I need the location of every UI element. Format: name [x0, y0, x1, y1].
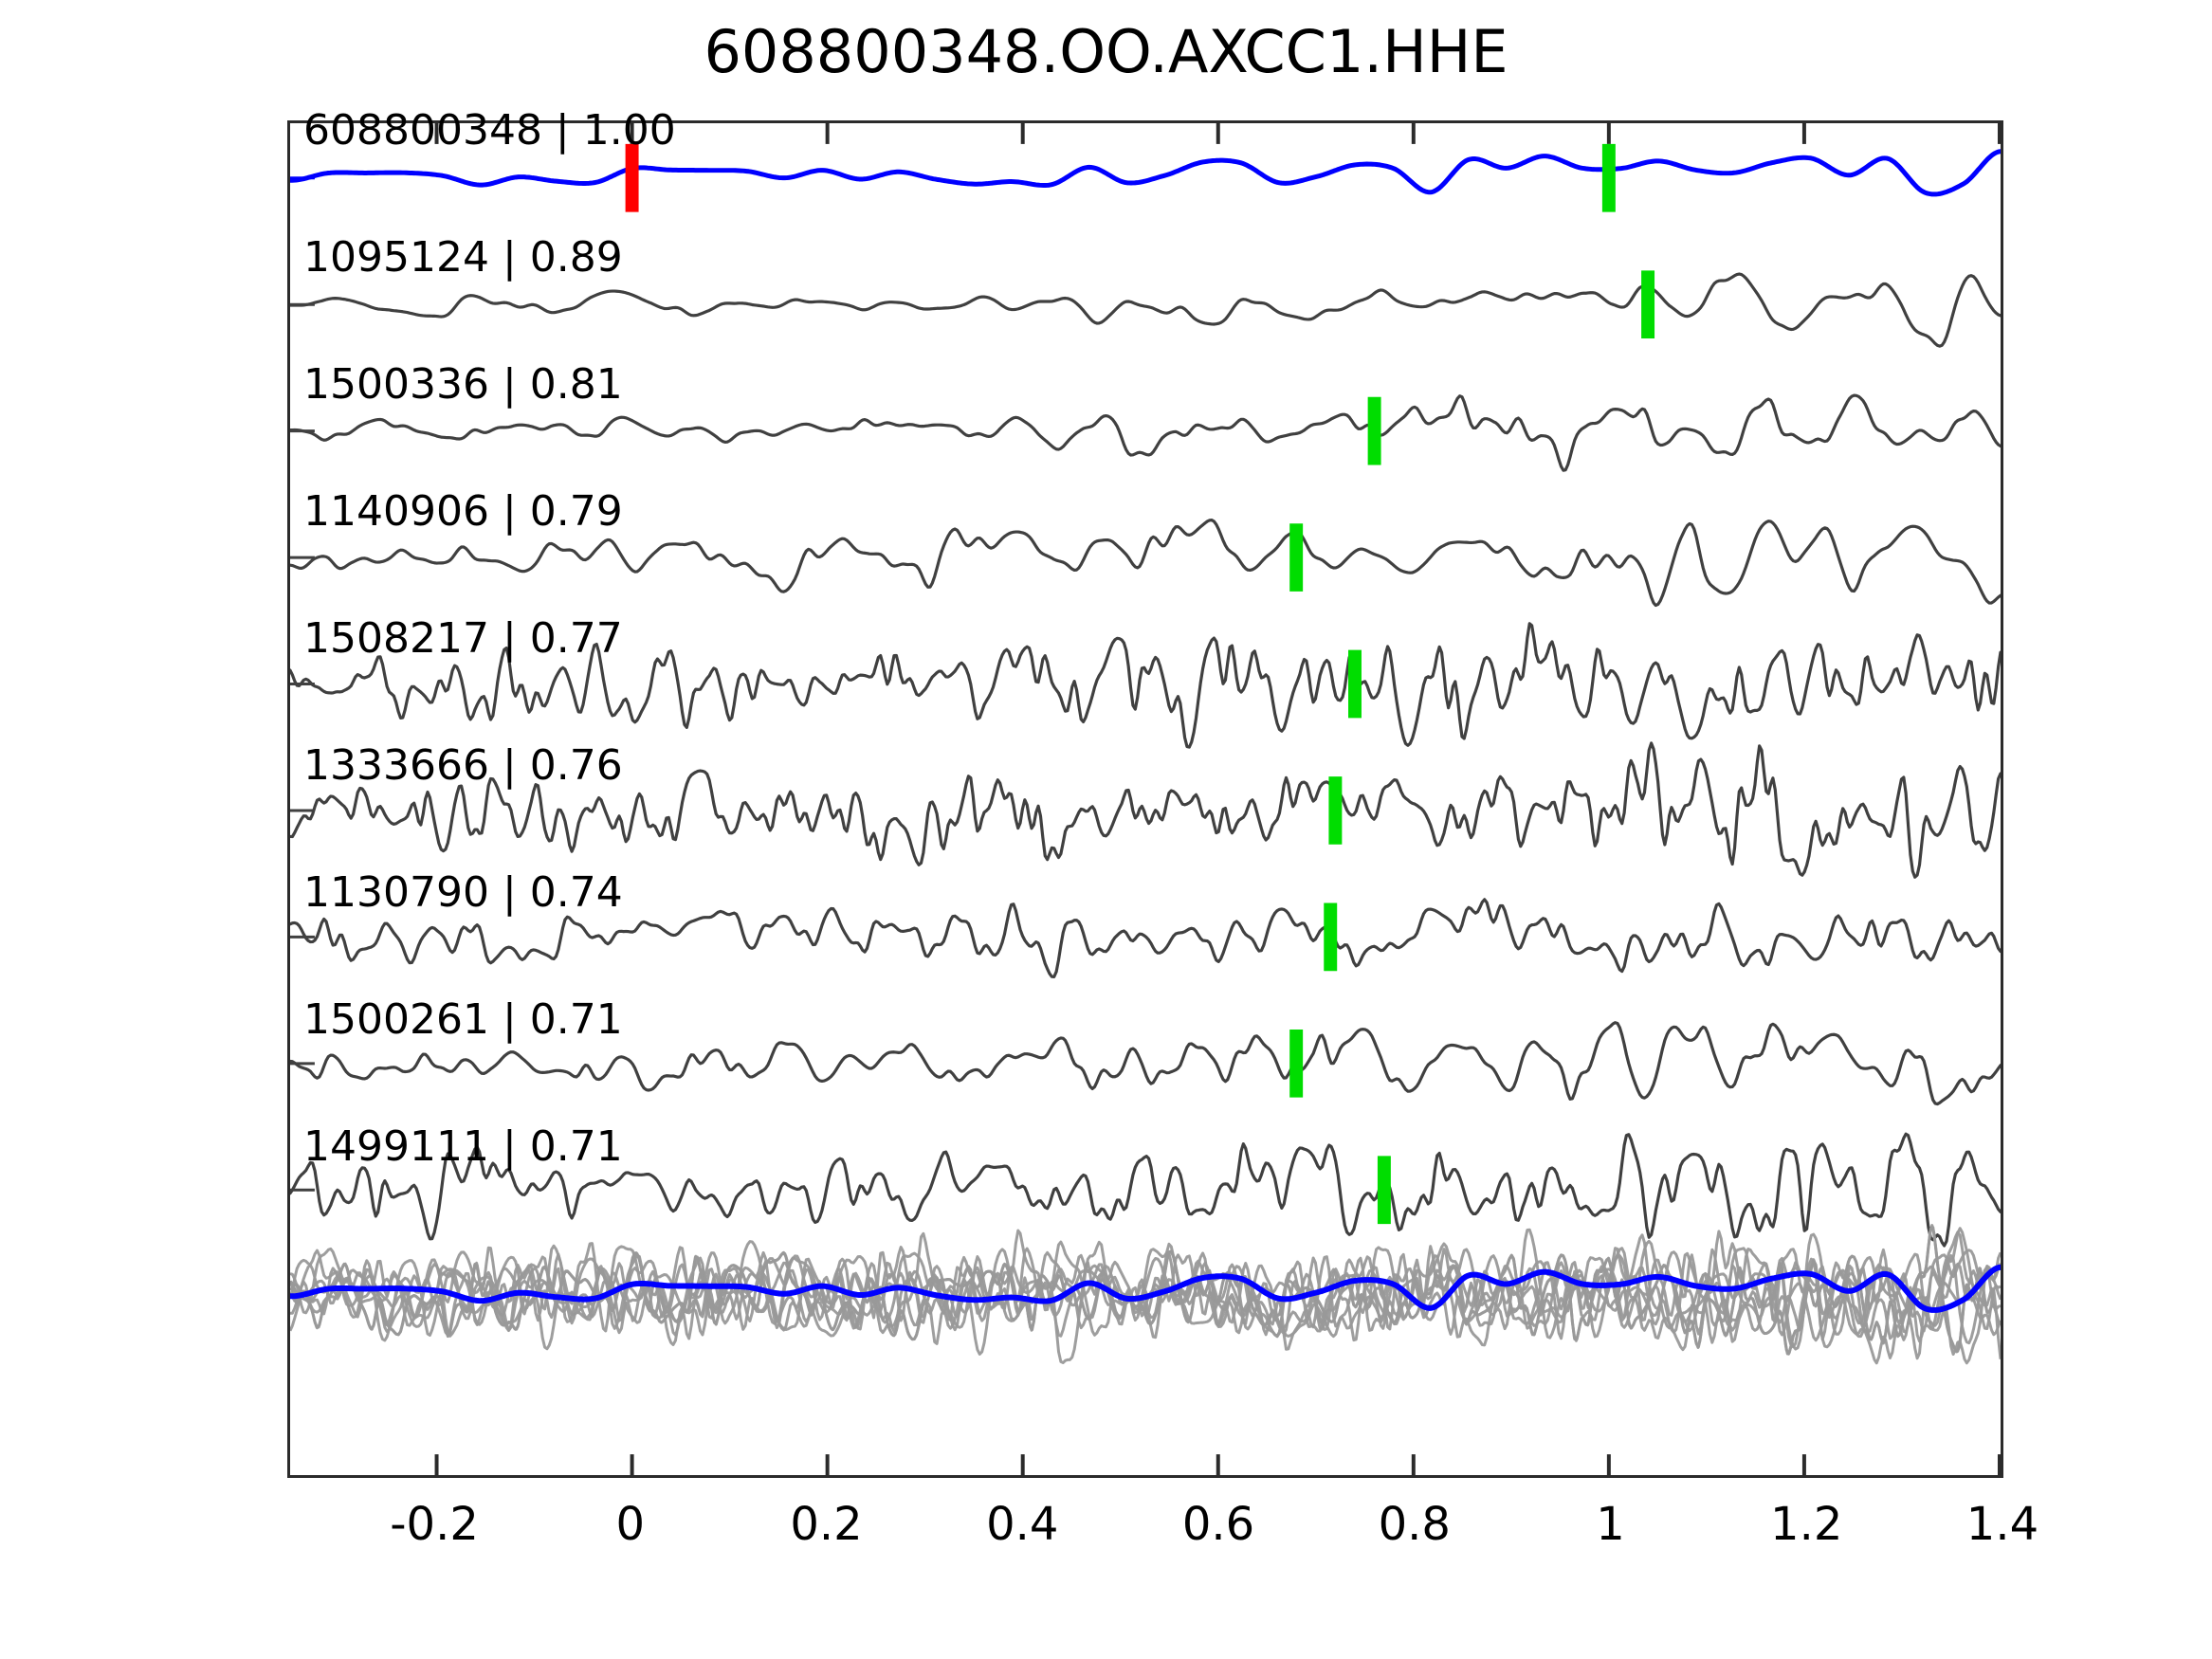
row-label-1333666: 1333666 | 0.76	[303, 741, 623, 790]
waveform-row	[290, 274, 2001, 346]
row-label-1500261: 1500261 | 0.71	[303, 995, 623, 1044]
xaxis-tick-labels: -0.200.20.40.60.811.21.4	[0, 1498, 2212, 1574]
row-label-1095124: 1095124 | 0.89	[303, 233, 623, 282]
xaxis-tick-label: 0.6	[1182, 1498, 1254, 1551]
waveform-canvas	[290, 123, 2001, 1475]
xaxis-tick-label: 0.2	[790, 1498, 862, 1551]
row-label-608800348: 608800348 | 1.00	[303, 106, 676, 155]
template-waveform-trace	[290, 152, 2001, 194]
xaxis-tick-label: 0.4	[986, 1498, 1058, 1551]
row-label-1499111: 1499111 | 0.71	[303, 1122, 623, 1171]
waveform-row	[290, 152, 2001, 194]
waveform-plot-area: 608800348 | 1.001095124 | 0.891500336 | …	[287, 120, 2003, 1478]
xaxis-tick-label: 1.2	[1770, 1498, 1842, 1551]
page-title: 608800348.OO.AXCC1.HHE	[0, 17, 2212, 86]
xaxis-tick-label: 1.4	[1966, 1498, 2038, 1551]
xaxis-tick-label: -0.2	[390, 1498, 479, 1551]
row-label-1500336: 1500336 | 0.81	[303, 360, 623, 409]
row-label-1508217: 1508217 | 0.77	[303, 614, 623, 663]
row-label-1140906: 1140906 | 0.79	[303, 487, 623, 536]
row-label-1130790: 1130790 | 0.74	[303, 868, 623, 917]
detection-waveform-trace	[290, 274, 2001, 346]
xaxis-tick-label: 0	[616, 1498, 646, 1551]
xaxis-tick-label: 1	[1596, 1498, 1625, 1551]
figure-root: 608800348.OO.AXCC1.HHE 608800348 | 1.001…	[0, 0, 2212, 1659]
xaxis-tick-label: 0.8	[1379, 1498, 1451, 1551]
